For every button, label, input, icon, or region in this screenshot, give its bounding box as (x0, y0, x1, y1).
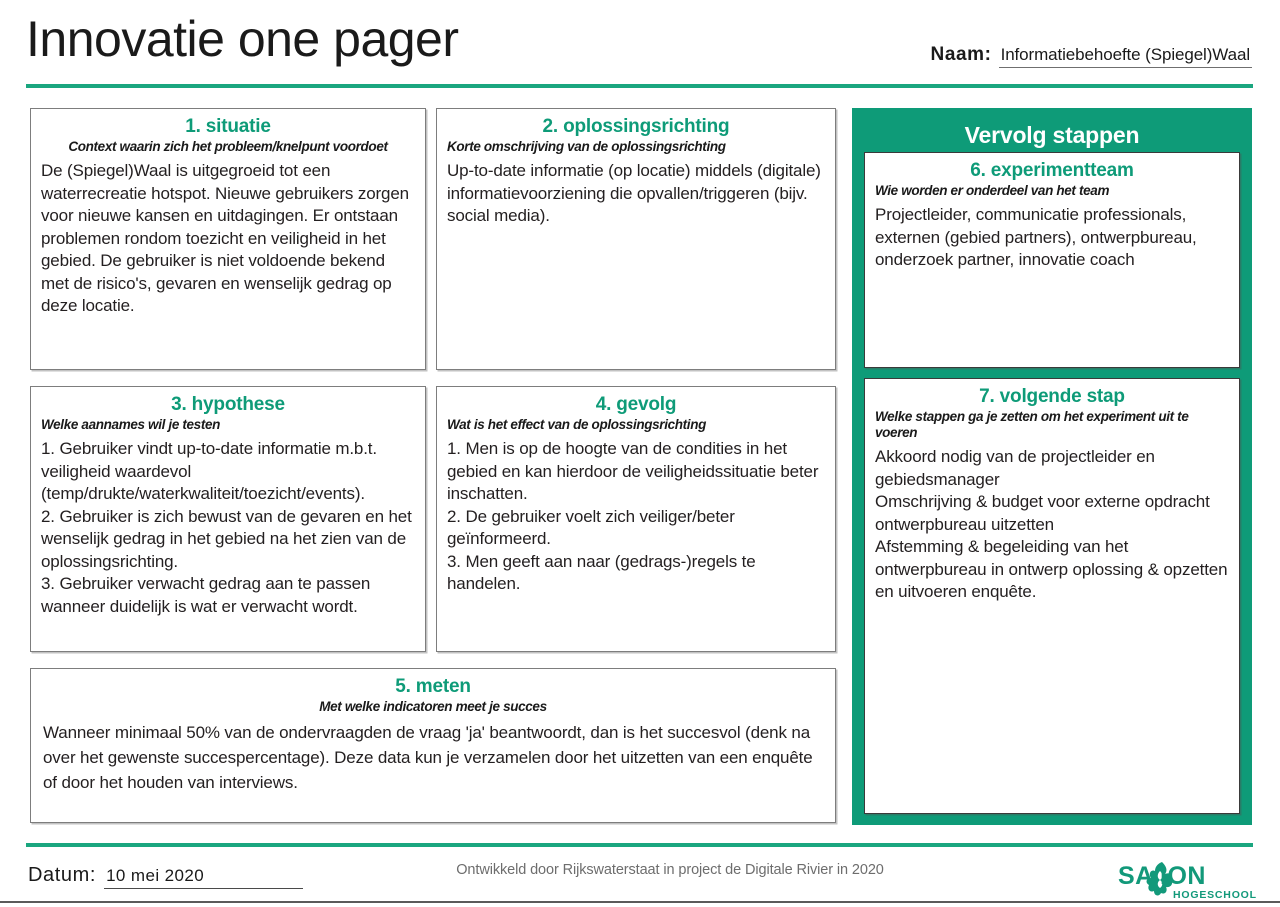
section-subtitle: Korte omschrijving van de oplossingsrich… (447, 139, 825, 155)
datum-label: Datum: (28, 864, 96, 887)
page-header: Innovatie one pager Naam: Informatiebeho… (0, 0, 1280, 92)
section-body: Akkoord nodig van de projectleider en ge… (875, 446, 1229, 604)
section-volgende-stap: 7. volgende stap Welke stappen ga je zet… (864, 378, 1240, 814)
header-divider (26, 84, 1253, 88)
naam-label: Naam: (931, 44, 992, 66)
section-subtitle: Wie worden er onderdeel van het team (875, 183, 1229, 199)
naam-field: Naam: Informatiebehoefte (Spiegel)Waal (931, 44, 1253, 68)
section-situatie: 1. situatie Context waarin zich het prob… (30, 108, 426, 370)
saxion-logo: SA ION HOGESCHOOL (1118, 858, 1258, 902)
datum-value[interactable]: 10 mei 2020 (104, 866, 303, 889)
section-body: Projectleider, communicatie professional… (875, 204, 1229, 272)
section-heading: 6. experimentteam (875, 159, 1229, 183)
section-hypothese: 3. hypothese Welke aannames wil je teste… (30, 386, 426, 652)
section-subtitle: Welke aannames wil je testen (41, 417, 415, 433)
datum-field: Datum: 10 mei 2020 (28, 864, 303, 889)
page-title: Innovatie one pager (26, 8, 459, 70)
section-heading: 4. gevolg (447, 393, 825, 417)
section-heading: 7. volgende stap (875, 385, 1229, 409)
saxion-logo-icon: SA ION HOGESCHOOL (1118, 858, 1258, 902)
svg-text:SA: SA (1118, 862, 1154, 890)
section-heading: 1. situatie (41, 115, 415, 139)
section-subtitle: Context waarin zich het probleem/knelpun… (41, 139, 415, 155)
section-body: De (Spiegel)Waal is uitgegroeid tot een … (41, 160, 415, 318)
section-body: Wanneer minimaal 50% van de ondervraagde… (43, 720, 823, 795)
section-gevolg: 4. gevolg Wat is het effect van de oplos… (436, 386, 836, 652)
section-meten: 5. meten Met welke indicatoren meet je s… (30, 668, 836, 823)
section-body: 1. Gebruiker vindt up-to-date informatie… (41, 438, 415, 618)
section-subtitle: Welke stappen ga je zetten om het experi… (875, 409, 1229, 441)
footer-divider (26, 843, 1253, 847)
page-bottom-edge (0, 901, 1280, 903)
section-body: 1. Men is op de hoogte van de condities … (447, 438, 825, 596)
section-experimentteam: 6. experimentteam Wie worden er onderdee… (864, 152, 1240, 368)
panel-title: Vervolg stappen (852, 122, 1252, 149)
section-subtitle: Wat is het effect van de oplossingsricht… (447, 417, 825, 433)
svg-text:HOGESCHOOL: HOGESCHOOL (1173, 889, 1257, 901)
section-subtitle: Met welke indicatoren meet je succes (43, 699, 823, 715)
section-body: Up-to-date informatie (op locatie) midde… (447, 160, 825, 228)
innovation-one-pager: Innovatie one pager Naam: Informatiebeho… (0, 0, 1280, 907)
section-heading: 5. meten (43, 675, 823, 699)
page-footer: Datum: 10 mei 2020 Ontwikkeld door Rijks… (0, 850, 1280, 907)
section-heading: 3. hypothese (41, 393, 415, 417)
footer-credit: Ontwikkeld door Rijkswaterstaat in proje… (440, 860, 900, 881)
section-heading: 2. oplossingsrichting (447, 115, 825, 139)
naam-value[interactable]: Informatiebehoefte (Spiegel)Waal (999, 45, 1252, 68)
section-oplossingsrichting: 2. oplossingsrichting Korte omschrijving… (436, 108, 836, 370)
